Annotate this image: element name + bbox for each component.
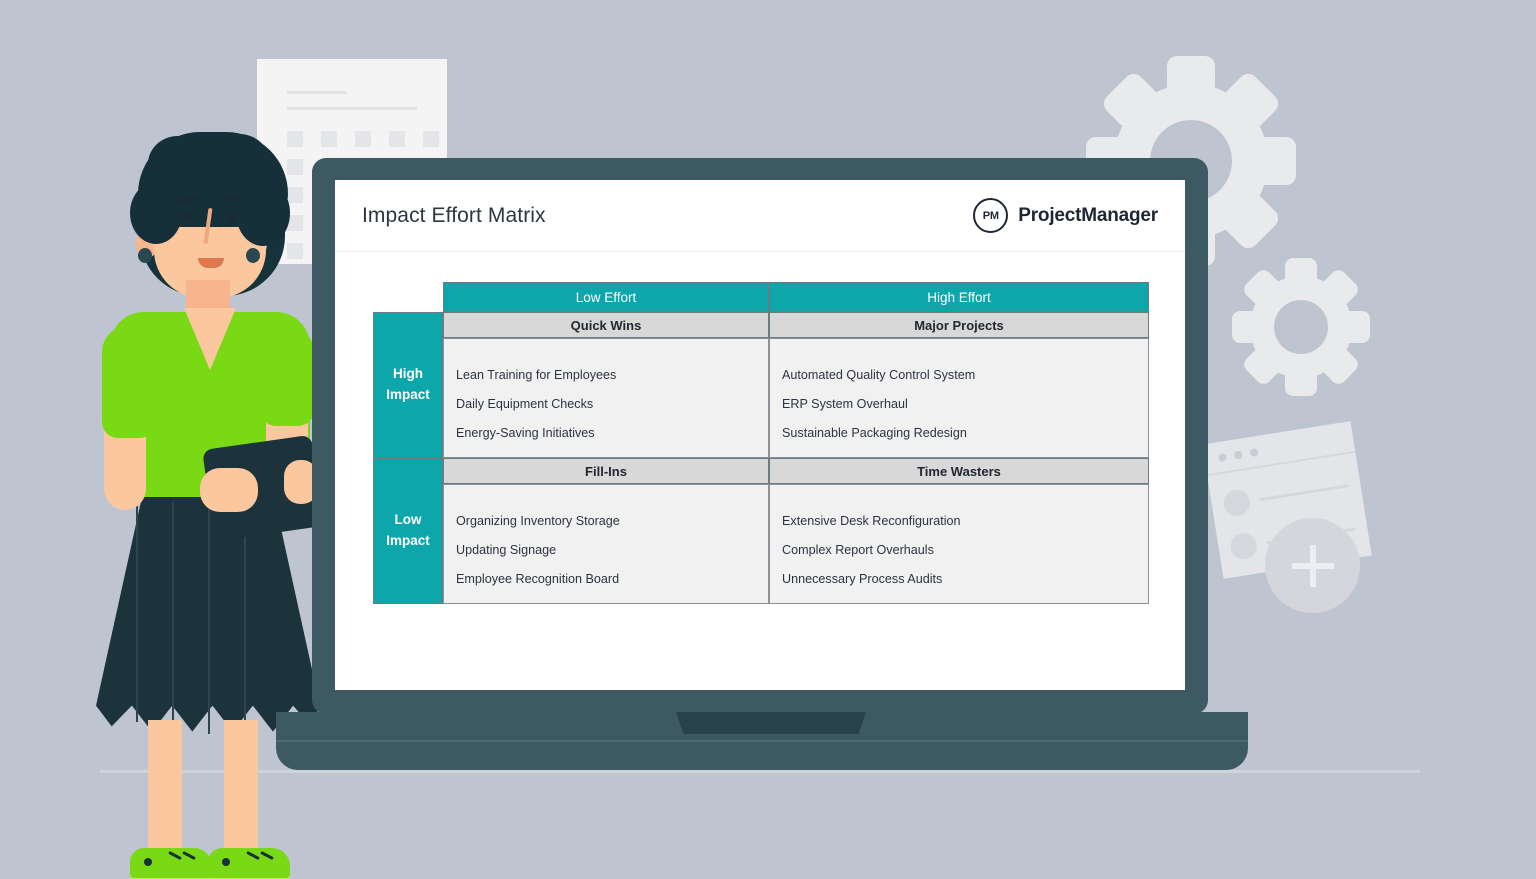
list-item: Organizing Inventory Storage (456, 507, 768, 536)
illustration-stage: Impact Effort Matrix PM ProjectManager L… (0, 0, 1536, 864)
row-label-high-impact-line2: Impact (386, 385, 430, 406)
list-item: Complex Report Overhauls (782, 536, 1148, 565)
row-label-low-impact-line1: Low (395, 510, 422, 531)
list-item: Employee Recognition Board (456, 565, 768, 594)
brand-logo: PM ProjectManager (973, 198, 1158, 233)
app-header: Impact Effort Matrix PM ProjectManager (335, 180, 1185, 252)
list-item: ERP System Overhaul (782, 390, 1148, 419)
quadrant-body-quick-wins: Lean Training for Employees Daily Equipm… (443, 338, 769, 458)
list-item: Extensive Desk Reconfiguration (782, 507, 1148, 536)
quadrant-body-time-wasters: Extensive Desk Reconfiguration Complex R… (769, 484, 1149, 604)
page-title: Impact Effort Matrix (362, 204, 546, 228)
quadrant-body-major-projects: Automated Quality Control System ERP Sys… (769, 338, 1149, 458)
person-illustration (88, 130, 328, 775)
pm-circle-icon: PM (973, 198, 1008, 233)
list-item: Energy-Saving Initiatives (456, 419, 768, 448)
gear-medium-icon (1232, 258, 1370, 396)
list-item: Automated Quality Control System (782, 361, 1148, 390)
list-item: Lean Training for Employees (456, 361, 768, 390)
laptop-trackpad (676, 712, 866, 734)
plus-circle-icon (1265, 518, 1360, 613)
laptop-screen: Impact Effort Matrix PM ProjectManager L… (335, 180, 1185, 690)
quadrant-body-fill-ins: Organizing Inventory Storage Updating Si… (443, 484, 769, 604)
list-item: Updating Signage (456, 536, 768, 565)
matrix-corner-blank (373, 282, 443, 312)
list-item: Sustainable Packaging Redesign (782, 419, 1148, 448)
quadrant-header-quick-wins: Quick Wins (443, 312, 769, 338)
row-label-low-impact-line2: Impact (386, 531, 430, 552)
quadrant-header-fill-ins: Fill-Ins (443, 458, 769, 484)
row-label-high-impact-line1: High (393, 364, 423, 385)
row-label-high-impact: High Impact (373, 312, 443, 458)
row-label-low-impact: Low Impact (373, 458, 443, 604)
brand-name: ProjectManager (1018, 205, 1158, 227)
quadrant-header-time-wasters: Time Wasters (769, 458, 1149, 484)
quadrant-header-major-projects: Major Projects (769, 312, 1149, 338)
column-header-high-effort: High Effort (769, 282, 1149, 312)
column-header-low-effort: Low Effort (443, 282, 769, 312)
list-item: Daily Equipment Checks (456, 390, 768, 419)
list-item: Unnecessary Process Audits (782, 565, 1148, 594)
impact-effort-matrix: Low Effort High Effort High Impact Quick… (373, 282, 1149, 582)
